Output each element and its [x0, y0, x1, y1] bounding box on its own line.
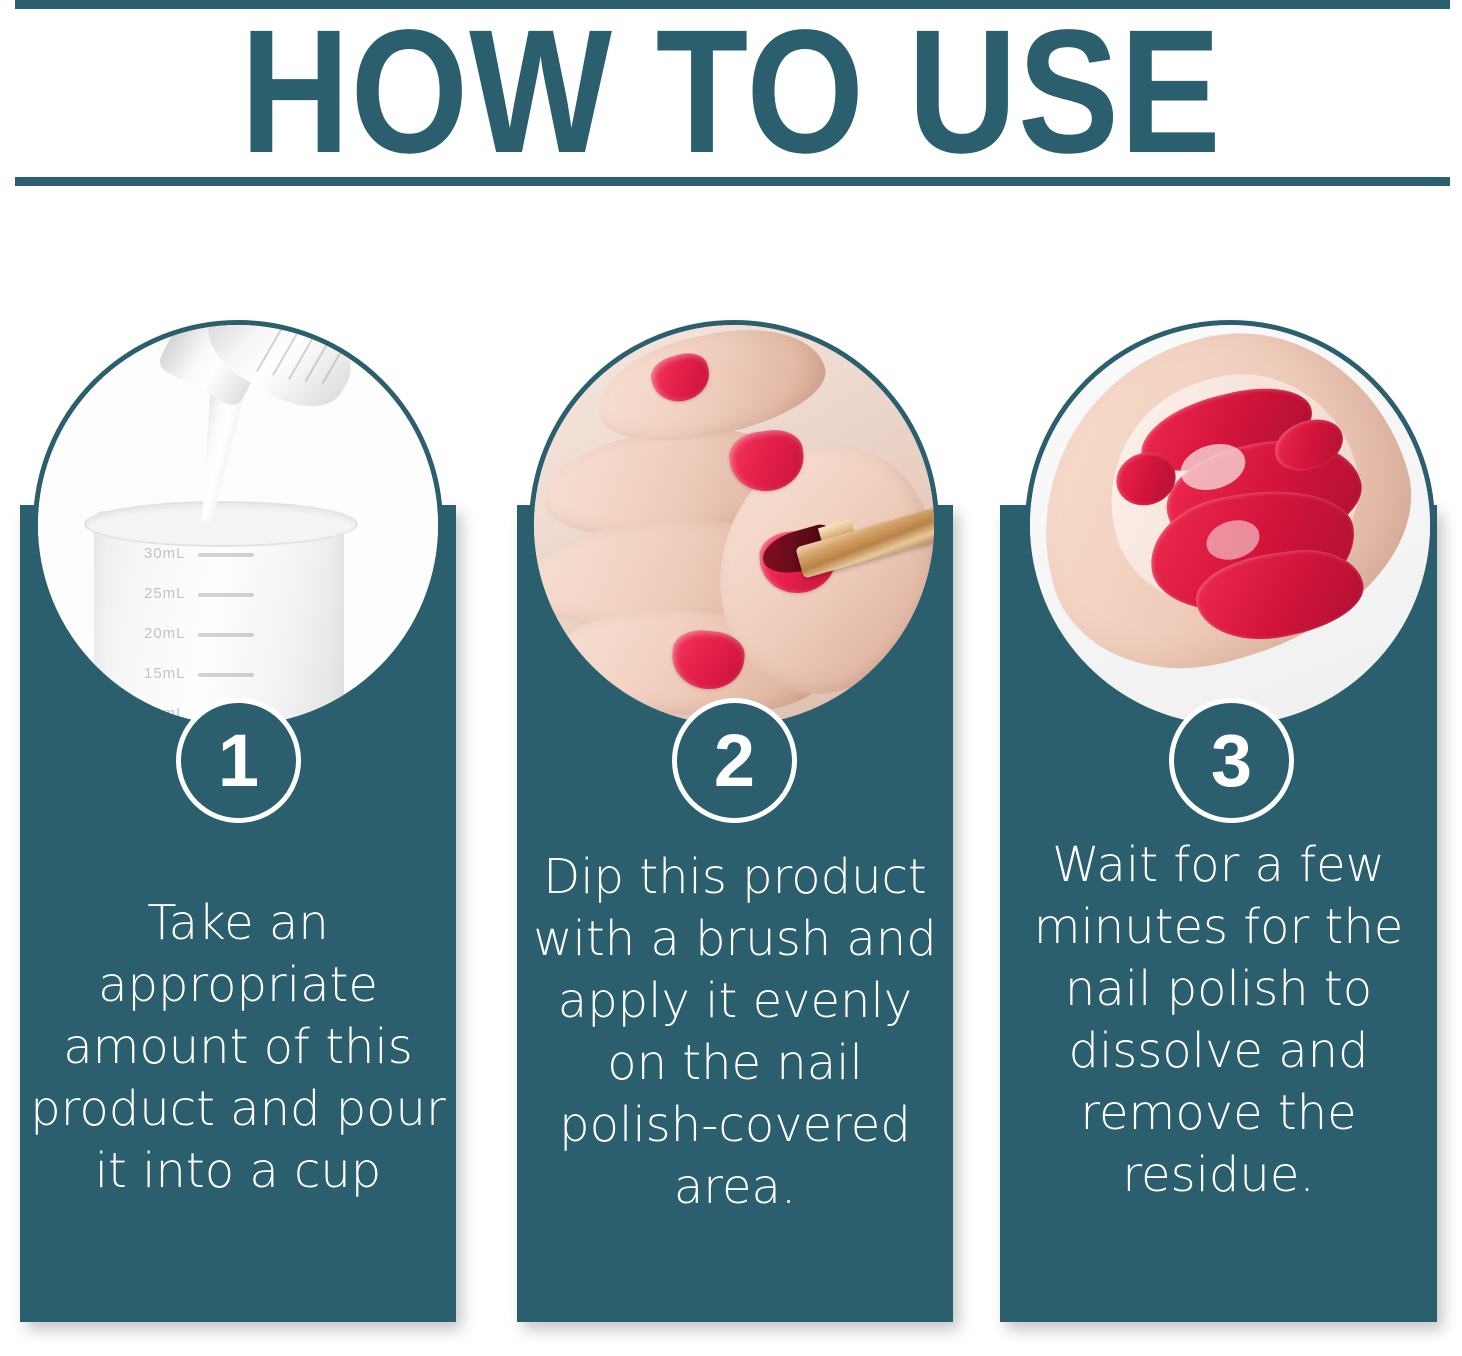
cup-graduation-label: 30mL: [144, 545, 186, 562]
step-3-text: Wait for a few minutes for the nail poli…: [1004, 834, 1433, 1206]
step-1-photo: 30mL 25mL 20mL 15mL 10mL: [33, 320, 443, 730]
cup-tick-mark: [198, 633, 254, 637]
dissolving-polish-illustration: [1030, 325, 1430, 725]
step-3-photo: [1025, 320, 1435, 730]
step-badge-3: 3: [1169, 698, 1294, 823]
brush-application-illustration: [534, 325, 934, 725]
cup-tick-mark: [198, 553, 254, 557]
step-badge-1: 1: [176, 698, 301, 823]
cup-graduation-label: 25mL: [144, 585, 186, 602]
step-2-text: Dip this product with a brush and apply …: [521, 846, 949, 1218]
cup-graduation-label: 10mL: [144, 705, 186, 722]
step-2-photo: [529, 320, 939, 730]
cup-graduation-label: 15mL: [144, 665, 186, 682]
measuring-cup-rim: [84, 501, 358, 547]
cup-graduation-label: 20mL: [144, 625, 186, 642]
cup-tick-mark: [198, 673, 254, 677]
step-1-text: Take an appropriate amount of this produ…: [26, 892, 450, 1202]
cup-tick-mark: [198, 593, 254, 597]
step-badge-2: 2: [672, 698, 797, 823]
steps-container: 30mL 25mL 20mL 15mL 10mL 1 Take an appro…: [0, 0, 1462, 1356]
dropper-cup-illustration: 30mL 25mL 20mL 15mL 10mL: [38, 325, 438, 725]
